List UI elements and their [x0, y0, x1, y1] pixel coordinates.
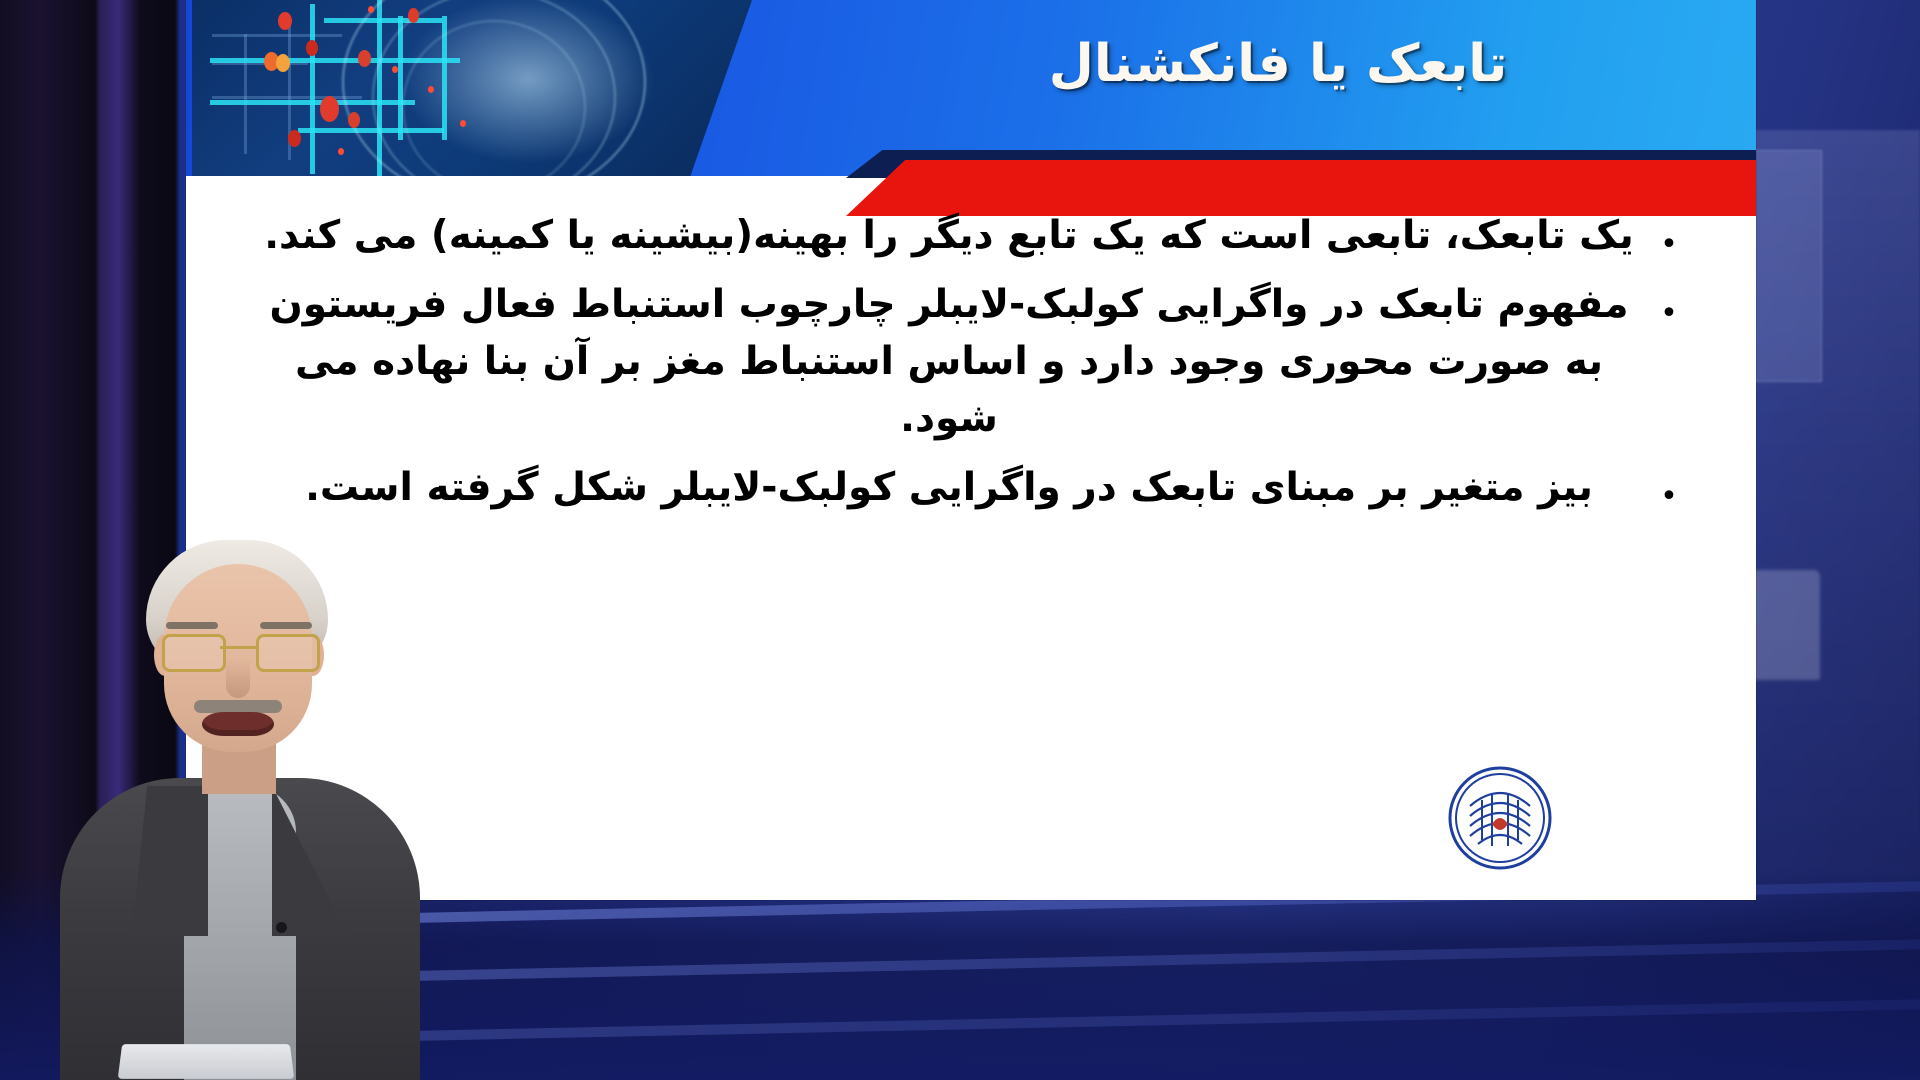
bullet-marker-icon: • [1652, 208, 1686, 260]
bullet-marker-icon: • [1652, 277, 1686, 329]
bullet-marker-icon: • [1652, 460, 1686, 512]
screen-root: تابعک یا فانکشنال • یک تابعک، تابعی است … [0, 0, 1920, 1080]
bullet-item: • یک تابعک، تابعی است که یک تابع دیگر را… [246, 208, 1686, 265]
lecturer-video-overlay [60, 530, 420, 1080]
bullet-item: • بیز متغیر بر مبنای تابعک در واگرایی کو… [246, 460, 1686, 517]
bullet-text: مفهوم تابعک در واگرایی کولبک-لایبلر چارچ… [246, 277, 1652, 448]
bullet-item: • مفهوم تابعک در واگرایی کولبک-لایبلر چا… [246, 277, 1686, 448]
presentation-slide: تابعک یا فانکشنال • یک تابعک، تابعی است … [186, 0, 1756, 900]
slide-header: تابعک یا فانکشنال [186, 0, 1756, 176]
lapel-microphone-icon [276, 922, 287, 933]
slide-title: تابعک یا فانکشنال [846, 34, 1710, 94]
header-decorative-image [192, 0, 752, 176]
bullet-text: یک تابعک، تابعی است که یک تابع دیگر را ب… [246, 208, 1652, 265]
bullet-text: بیز متغیر بر مبنای تابعک در واگرایی کولب… [246, 460, 1652, 517]
laptop-icon [118, 1044, 295, 1079]
eyeglasses-icon [160, 634, 318, 668]
university-seal-logo [1448, 766, 1552, 870]
